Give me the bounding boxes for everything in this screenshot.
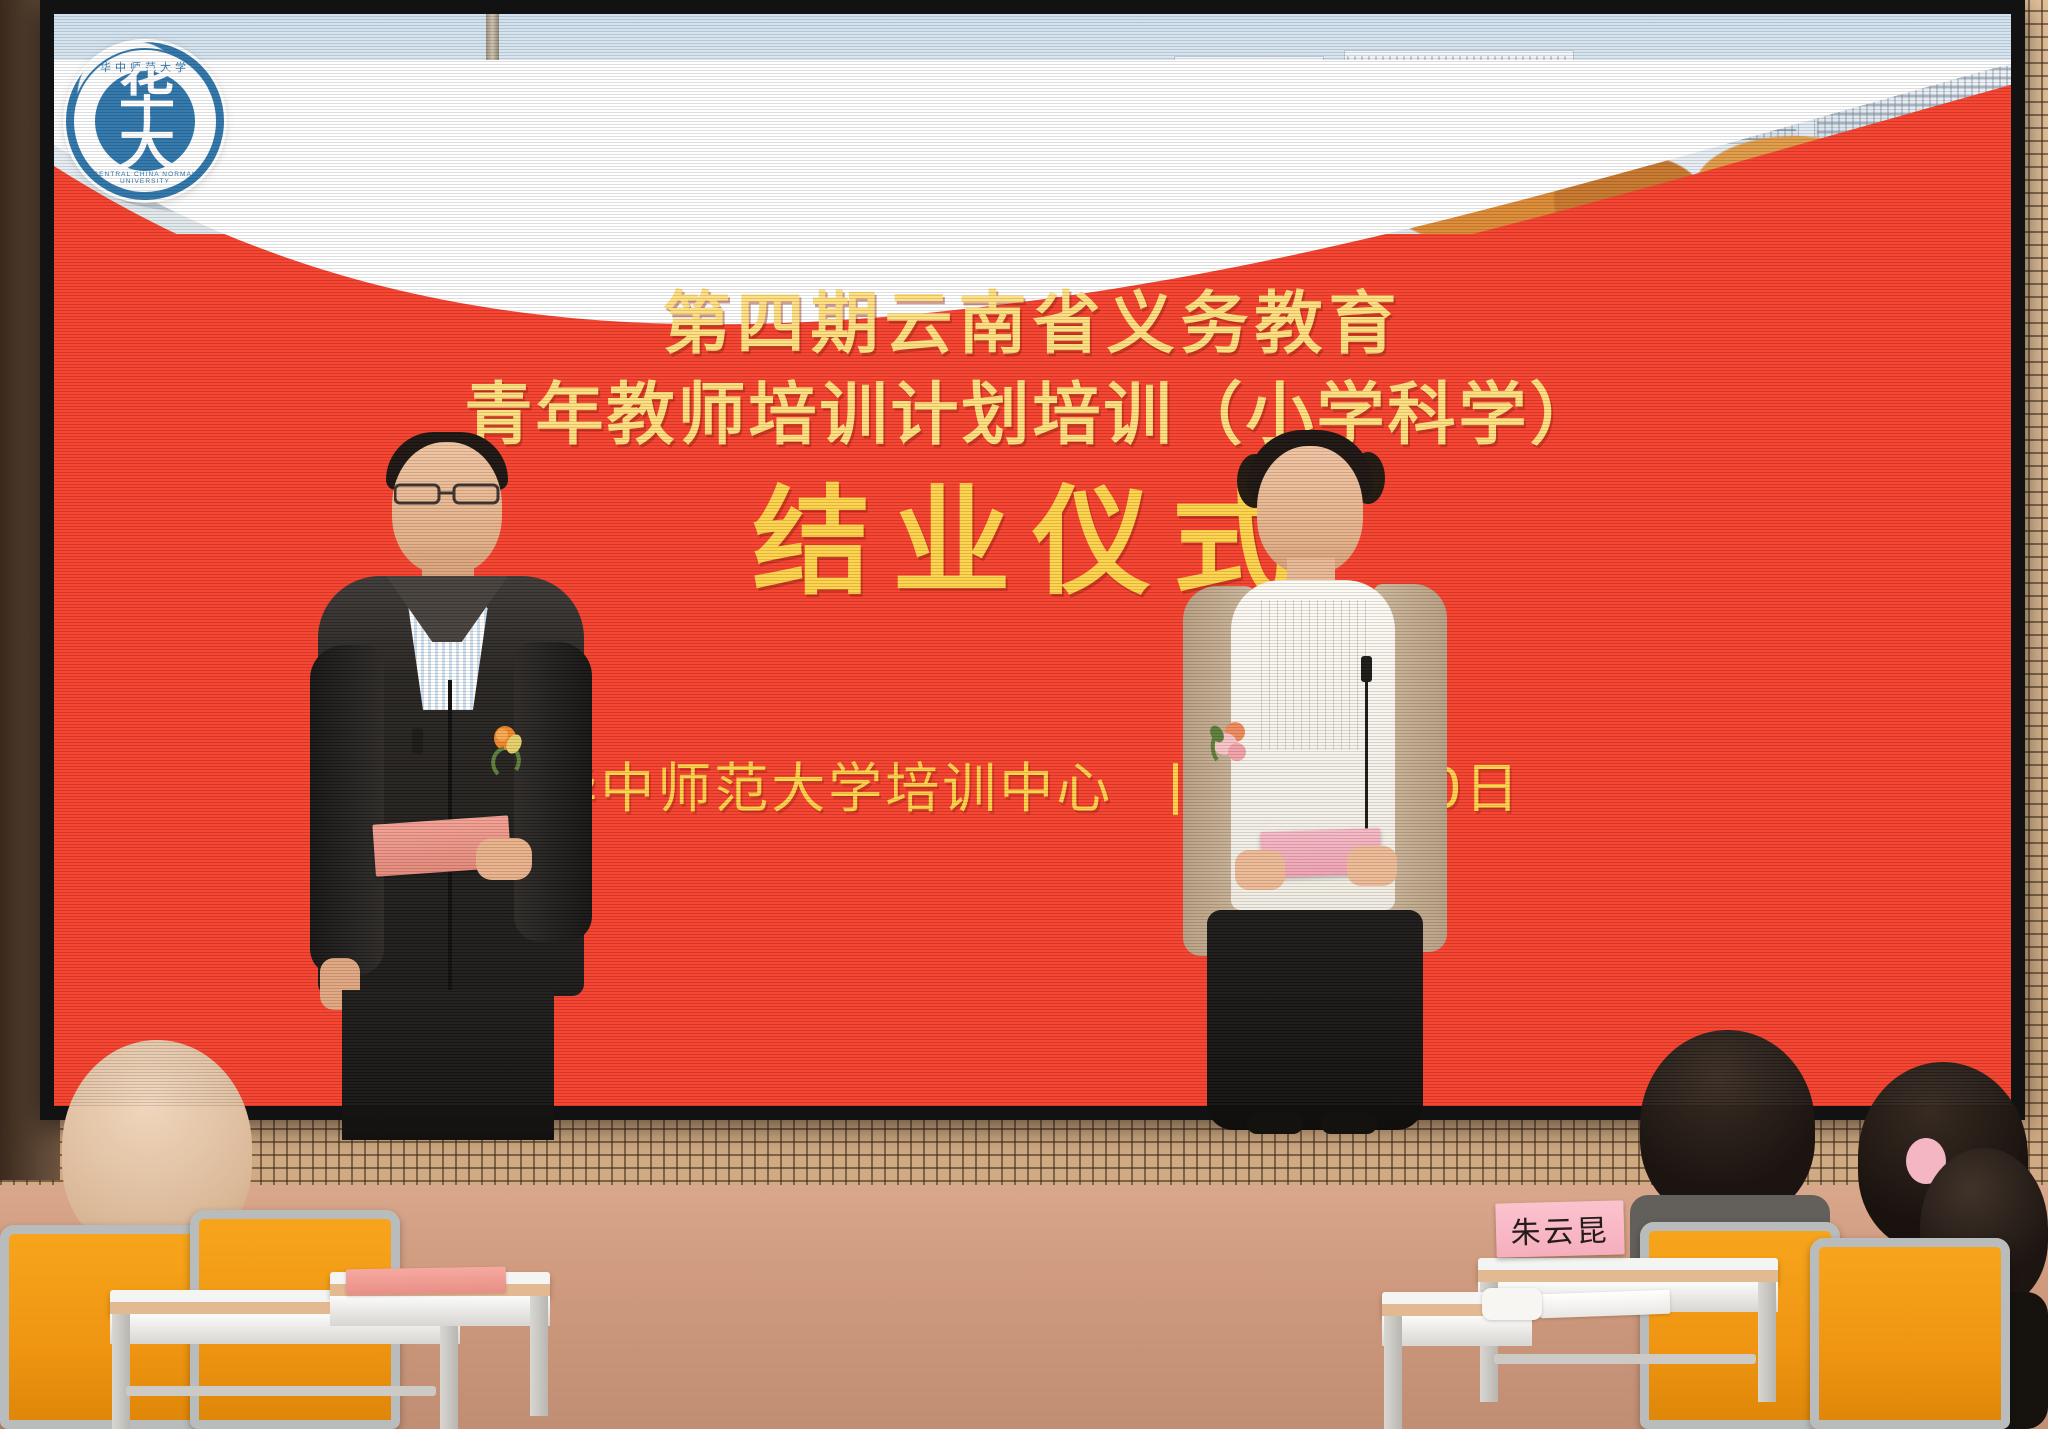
campus-building [814, 66, 974, 136]
female-host-shoe [1321, 1112, 1377, 1134]
audience-chair [1810, 1238, 2010, 1429]
campus-tree [934, 132, 1124, 234]
campus-tree [1694, 136, 1894, 234]
campus-photo-band [54, 14, 2011, 234]
glasses-icon [394, 482, 500, 506]
campus-building [204, 76, 644, 172]
desk-shelf [1494, 1354, 1756, 1364]
female-host-shoe [1247, 1112, 1303, 1134]
campus-tree [1254, 162, 1384, 234]
male-host-head [392, 442, 502, 574]
logo-outer-ring: 华中师范大学 CENTRAL CHINA NORMAL UNIVERSITY 华… [72, 48, 218, 194]
female-host-skirt [1207, 910, 1423, 1130]
desk-leg [1758, 1282, 1776, 1402]
female-host-hand [1347, 846, 1397, 886]
desk-paper [1540, 1290, 1671, 1319]
male-host-trousers [342, 990, 554, 1140]
audience-name-card[interactable]: 朱云昆 [1495, 1200, 1624, 1257]
lapel-microphone [1361, 656, 1372, 682]
audience-name-card-text: 朱云昆 [1510, 1206, 1610, 1253]
female-host-head [1257, 446, 1363, 574]
campus-tree [574, 164, 664, 234]
desk-front-panel [330, 1296, 550, 1326]
audience-head-back [1640, 1030, 1815, 1220]
banner-line-1: 第四期云南省义务教育 [54, 284, 2011, 367]
campus-building [634, 78, 824, 160]
campus-building [1814, 60, 2011, 146]
male-host [300, 430, 600, 1130]
desk-paper [346, 1267, 506, 1296]
campus-building [1174, 56, 1324, 140]
female-host-hand [1235, 850, 1285, 890]
desk-leg [112, 1314, 130, 1429]
female-host-blouse-pleats [1261, 600, 1367, 750]
campus-building [1344, 50, 1574, 140]
microphone-head [509, 154, 531, 180]
lapel-microphone [412, 728, 423, 754]
desk-front-panel [1382, 1316, 1532, 1346]
campus-building [1599, 66, 1799, 144]
campus-tree [1104, 146, 1274, 234]
campus-tree [1554, 154, 1704, 234]
male-host-left-arm [310, 645, 384, 975]
corsage-flower [484, 722, 526, 778]
male-host-hand [476, 838, 532, 880]
desk-top [1478, 1258, 1778, 1284]
university-logo: 华中师范大学 CENTRAL CHINA NORMAL UNIVERSITY 华… [66, 42, 224, 200]
logo-glyph: 华大 [95, 71, 195, 172]
banner-footer-venue: 华中师范大学培训中心 [543, 757, 1113, 820]
campus-tree [1384, 130, 1564, 234]
campus-tree [664, 172, 784, 234]
desk-leg [1384, 1316, 1402, 1429]
male-host-right-arm [514, 642, 592, 942]
logo-core-disc: 华大 [95, 71, 195, 171]
tissue [1482, 1288, 1542, 1320]
desk-leg [530, 1296, 548, 1416]
corsage-flower [1209, 718, 1253, 776]
screenshot-root: 华中师范大学 CENTRAL CHINA NORMAL UNIVERSITY 华… [0, 0, 2048, 1429]
campus-tree [814, 156, 954, 234]
female-host [1165, 418, 1465, 1130]
